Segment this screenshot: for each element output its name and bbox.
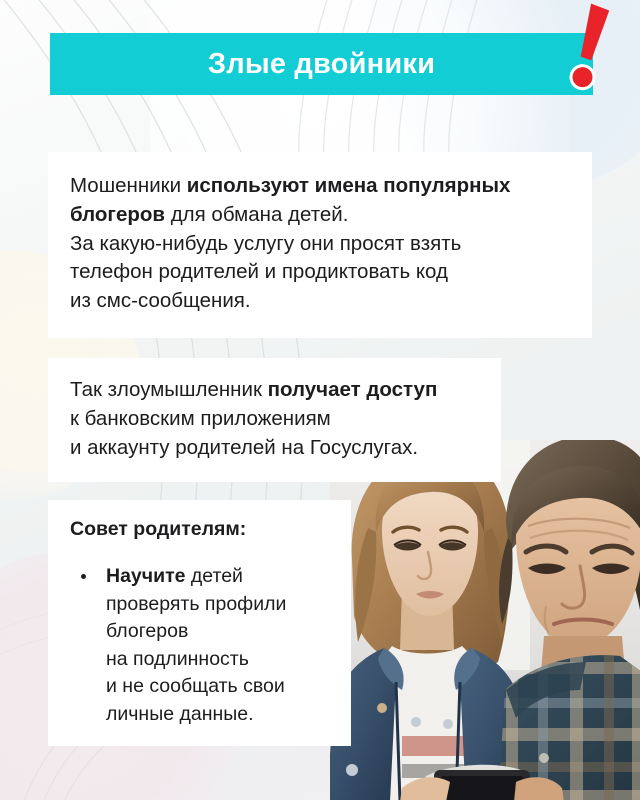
text-card-advice: Совет родителям: Научите детейпроверять … [48, 500, 351, 746]
advice-heading: Совет родителям: [70, 518, 333, 541]
bullet-text: Научите детейпроверять профилиблогеровна… [106, 565, 286, 725]
text-card-scammers: Мошенники используют имена популярныхбло… [48, 152, 592, 338]
advice-bullet-list: Научите детейпроверять профилиблогеровна… [70, 563, 333, 728]
card-1-paragraph: Мошенники используют имена популярныхбло… [70, 172, 570, 316]
page-title: Злые двойники [208, 50, 435, 79]
text-card-access: Так злоумышленник получает доступк банко… [48, 358, 501, 482]
photo-girl-and-man-with-phone [330, 440, 640, 800]
card-2-paragraph: Так злоумышленник получает доступк банко… [70, 376, 479, 462]
title-banner: Злые двойники [50, 33, 593, 95]
infographic-poster: Злые двойники Мошенники используют имена… [0, 0, 640, 800]
photo-illustration [330, 440, 640, 800]
bullet-dot-icon [81, 574, 86, 579]
list-item: Научите детейпроверять профилиблогеровна… [70, 563, 333, 728]
